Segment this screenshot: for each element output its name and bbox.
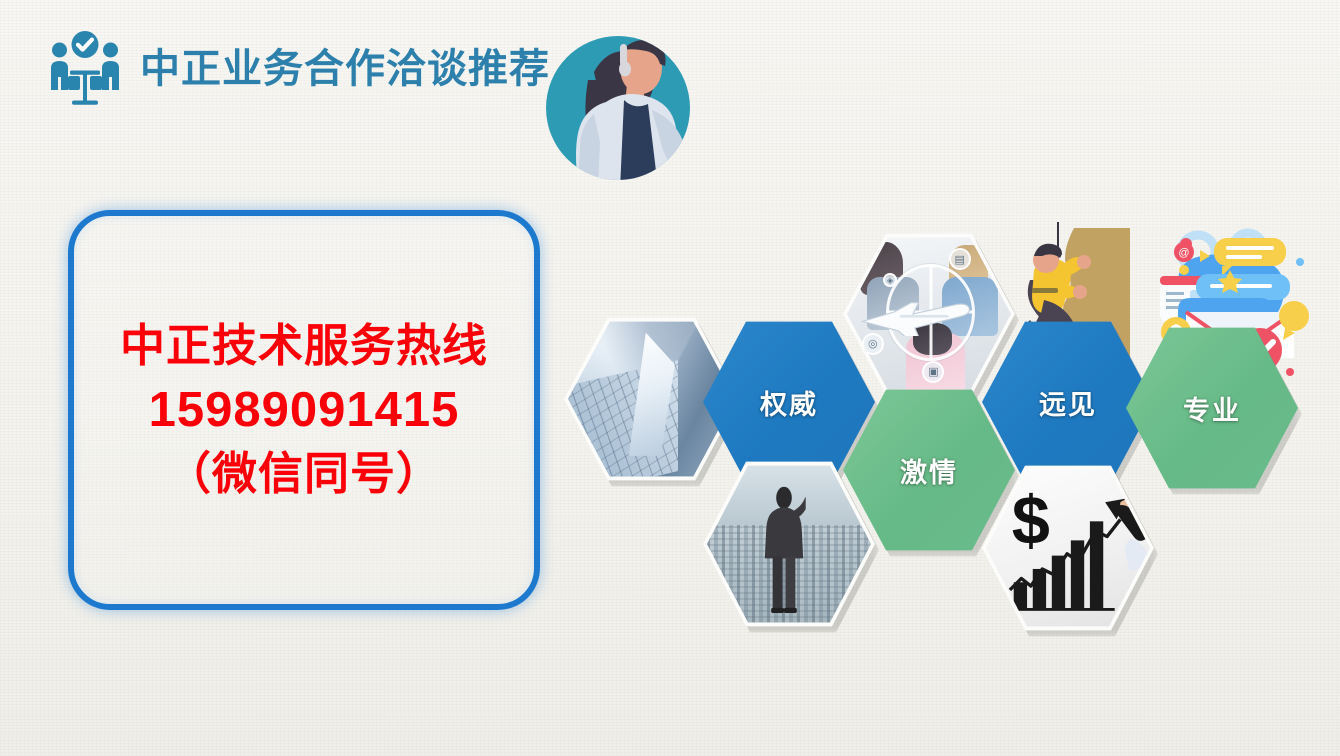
stopwatch-icon: ◎ bbox=[862, 333, 884, 355]
hotline-card: 中正技术服务热线 15989091415 （微信同号） bbox=[68, 210, 540, 610]
page-title: 中正业务合作洽谈推荐 bbox=[140, 49, 550, 89]
hotline-number[interactable]: 15989091415 bbox=[149, 380, 460, 441]
hexagon-cluster: @ 权威 bbox=[552, 212, 1332, 672]
svg-text:@: @ bbox=[1178, 247, 1189, 259]
hexagon-label: 专业 bbox=[1183, 389, 1241, 428]
hexagon-label: 权威 bbox=[760, 383, 818, 422]
hexagon-label: 远见 bbox=[1039, 383, 1097, 422]
header: 中正业务合作洽谈推荐 bbox=[48, 26, 550, 112]
three-people-check-icon bbox=[48, 30, 122, 108]
hexagon-label: 激情 bbox=[900, 451, 958, 490]
airplane-icon bbox=[857, 298, 991, 335]
svg-text:$: $ bbox=[1012, 482, 1050, 559]
customer-service-agent-illustration bbox=[528, 6, 743, 206]
hotline-note: （微信同号） bbox=[166, 446, 442, 502]
clipboard-icon: ▤ bbox=[949, 248, 971, 270]
hotline-title: 中正技术服务热线 bbox=[120, 318, 488, 374]
